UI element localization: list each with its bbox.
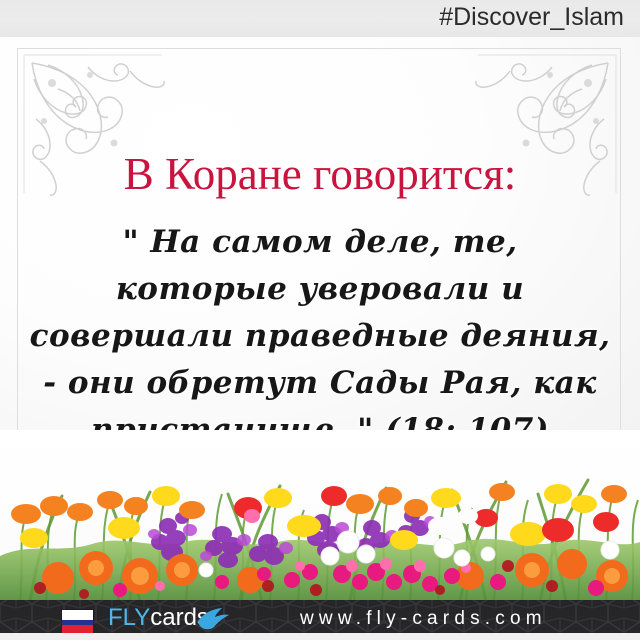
- quote-line: совершали праведные деяния,: [0, 313, 640, 360]
- header-band: #Discover_Islam: [0, 0, 640, 37]
- brand-logo[interactable]: FLYcards: [108, 606, 209, 630]
- quote-line: которые уверовали и: [0, 266, 640, 313]
- quote-line: - они обретут Сады Рая, как: [0, 360, 640, 407]
- bottom-strip: [0, 633, 640, 640]
- quote-line: " На самом деле, те,: [0, 219, 640, 266]
- bird-icon: [196, 607, 230, 636]
- greeting-card: #Discover_Islam: [0, 0, 640, 640]
- hashtag-label: #Discover_Islam: [439, 3, 624, 32]
- page-title: В Коране говорится:: [0, 150, 640, 198]
- quote-text: " На самом деле, те, которые уверовали и…: [0, 219, 640, 454]
- brand-fly-label: FLY: [108, 604, 150, 631]
- website-url[interactable]: www.fly-cards.com: [300, 608, 547, 630]
- flower-meadow-photo: [0, 430, 640, 602]
- quote-area: В Коране говорится: " На самом деле, те,…: [0, 37, 640, 457]
- russian-flag-icon: [62, 610, 93, 625]
